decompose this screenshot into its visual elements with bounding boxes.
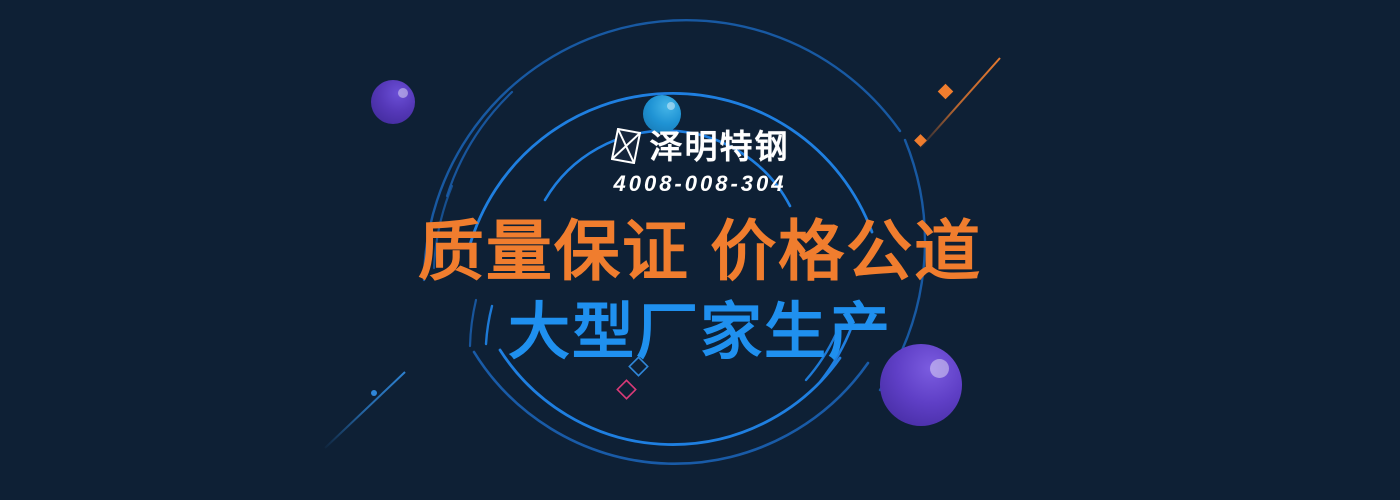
brand-name: 泽明特钢 bbox=[650, 130, 790, 163]
brand-phone: 4008-008-304 bbox=[613, 173, 786, 195]
headline-text: 质量保证 价格公道 bbox=[418, 217, 982, 286]
promo-banner: 泽明特钢 4008-008-304 质量保证 价格公道 大型厂家生产 bbox=[0, 0, 1400, 500]
subheadline-text: 大型厂家生产 bbox=[508, 300, 892, 365]
rhombus-x-logo-icon bbox=[611, 128, 641, 164]
brand-logo-row: 泽明特钢 bbox=[611, 128, 790, 164]
brand-logo-block: 泽明特钢 4008-008-304 bbox=[611, 128, 790, 195]
banner-content: 泽明特钢 4008-008-304 质量保证 价格公道 大型厂家生产 bbox=[0, 0, 1400, 500]
